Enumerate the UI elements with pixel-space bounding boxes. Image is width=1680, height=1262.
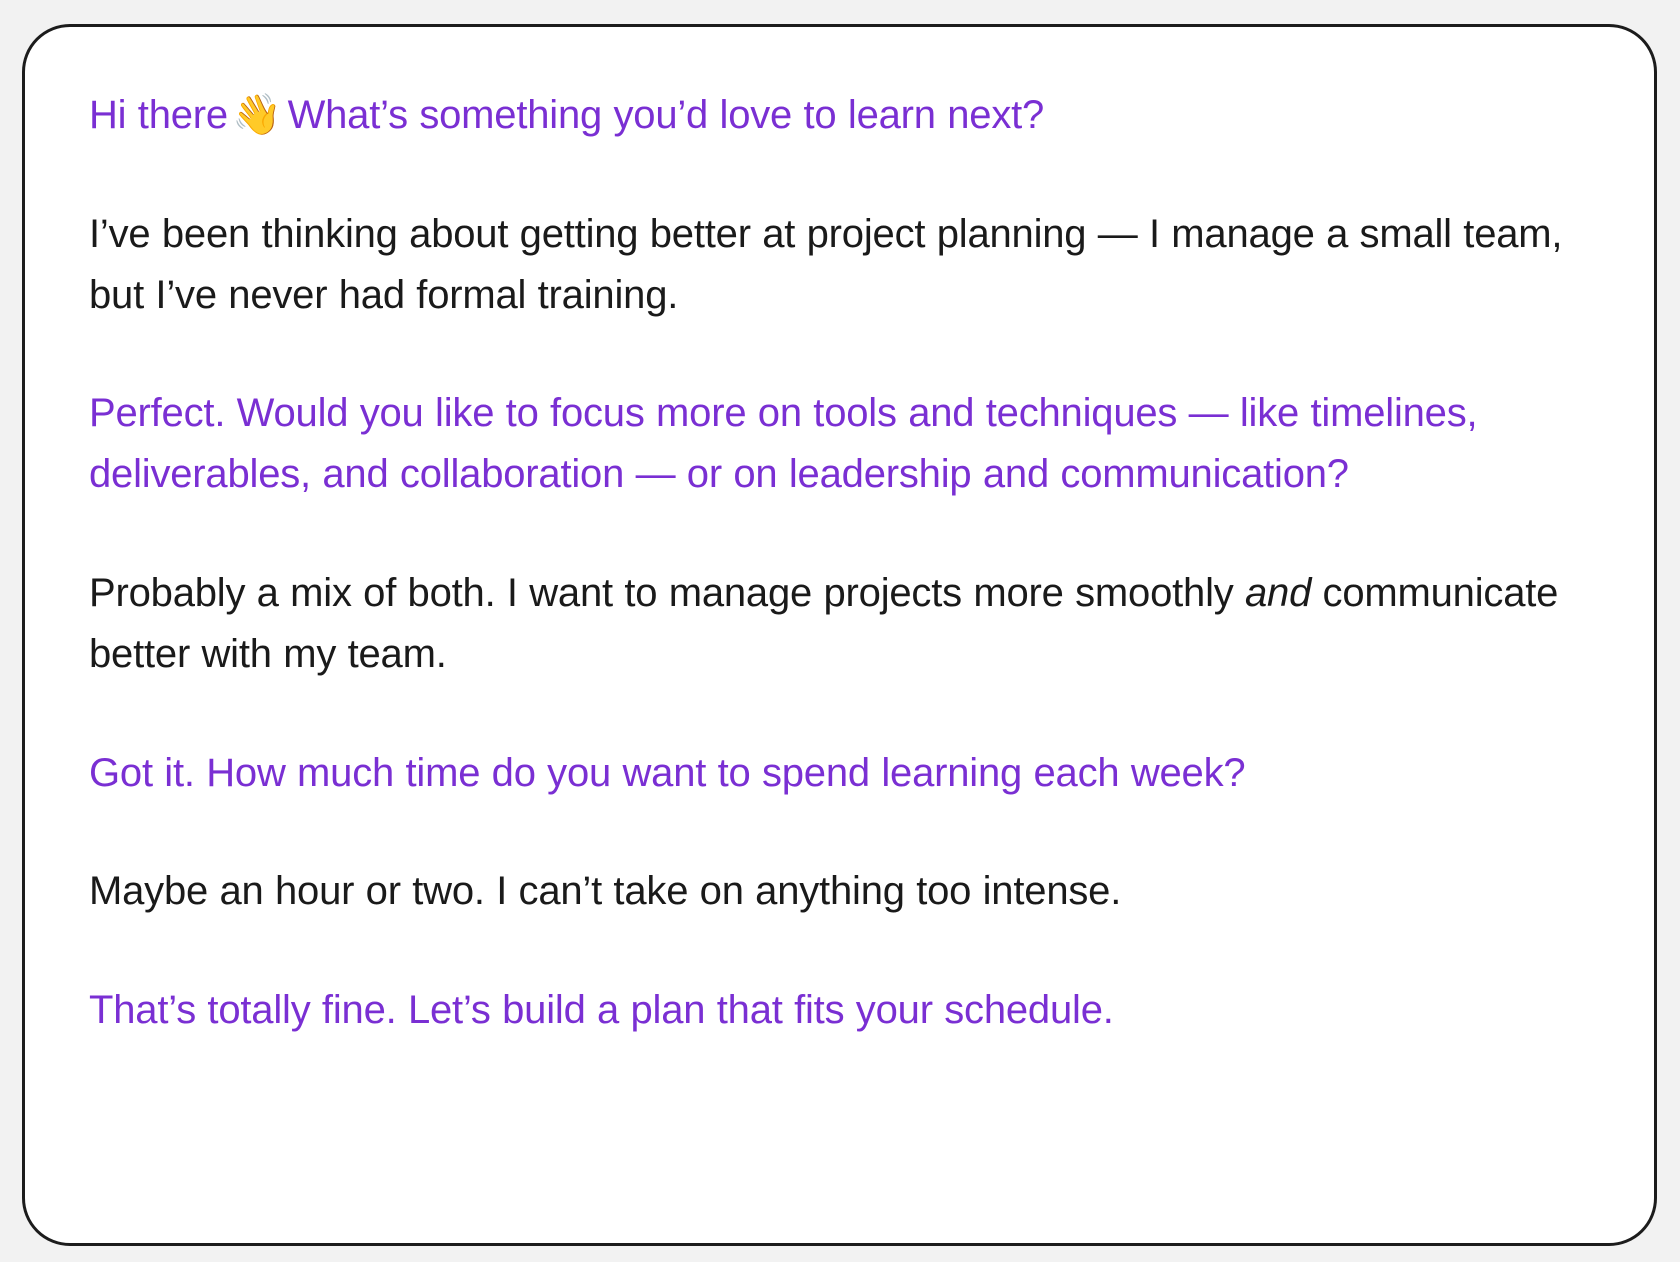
message-user-goal: I’ve been thinking about getting better … (89, 204, 1580, 326)
waving-hand-emoji: 👋 (232, 92, 282, 138)
message-assistant-greeting: Hi there👋What’s something you’d love to … (89, 85, 1580, 146)
message-assistant-closing: That’s totally fine. Let’s build a plan … (89, 980, 1580, 1041)
screen-canvas: Hi there👋What’s something you’d love to … (0, 0, 1680, 1262)
message-emphasis-word: and (1245, 571, 1311, 615)
conversation-card: Hi there👋What’s something you’d love to … (22, 24, 1657, 1246)
message-text-before-emphasis: Probably a mix of both. I want to manage… (89, 571, 1245, 615)
message-lead-text: Hi there (89, 93, 228, 137)
conversation-transcript: Hi there👋What’s something you’d love to … (89, 85, 1580, 1041)
message-user-time-reply: Maybe an hour or two. I can’t take on an… (89, 861, 1580, 922)
message-assistant-time-question: Got it. How much time do you want to spe… (89, 743, 1580, 804)
message-assistant-focus-question: Perfect. Would you like to focus more on… (89, 383, 1580, 505)
message-user-mix-reply: Probably a mix of both. I want to manage… (89, 563, 1580, 685)
message-text: What’s something you’d love to learn nex… (288, 93, 1045, 137)
